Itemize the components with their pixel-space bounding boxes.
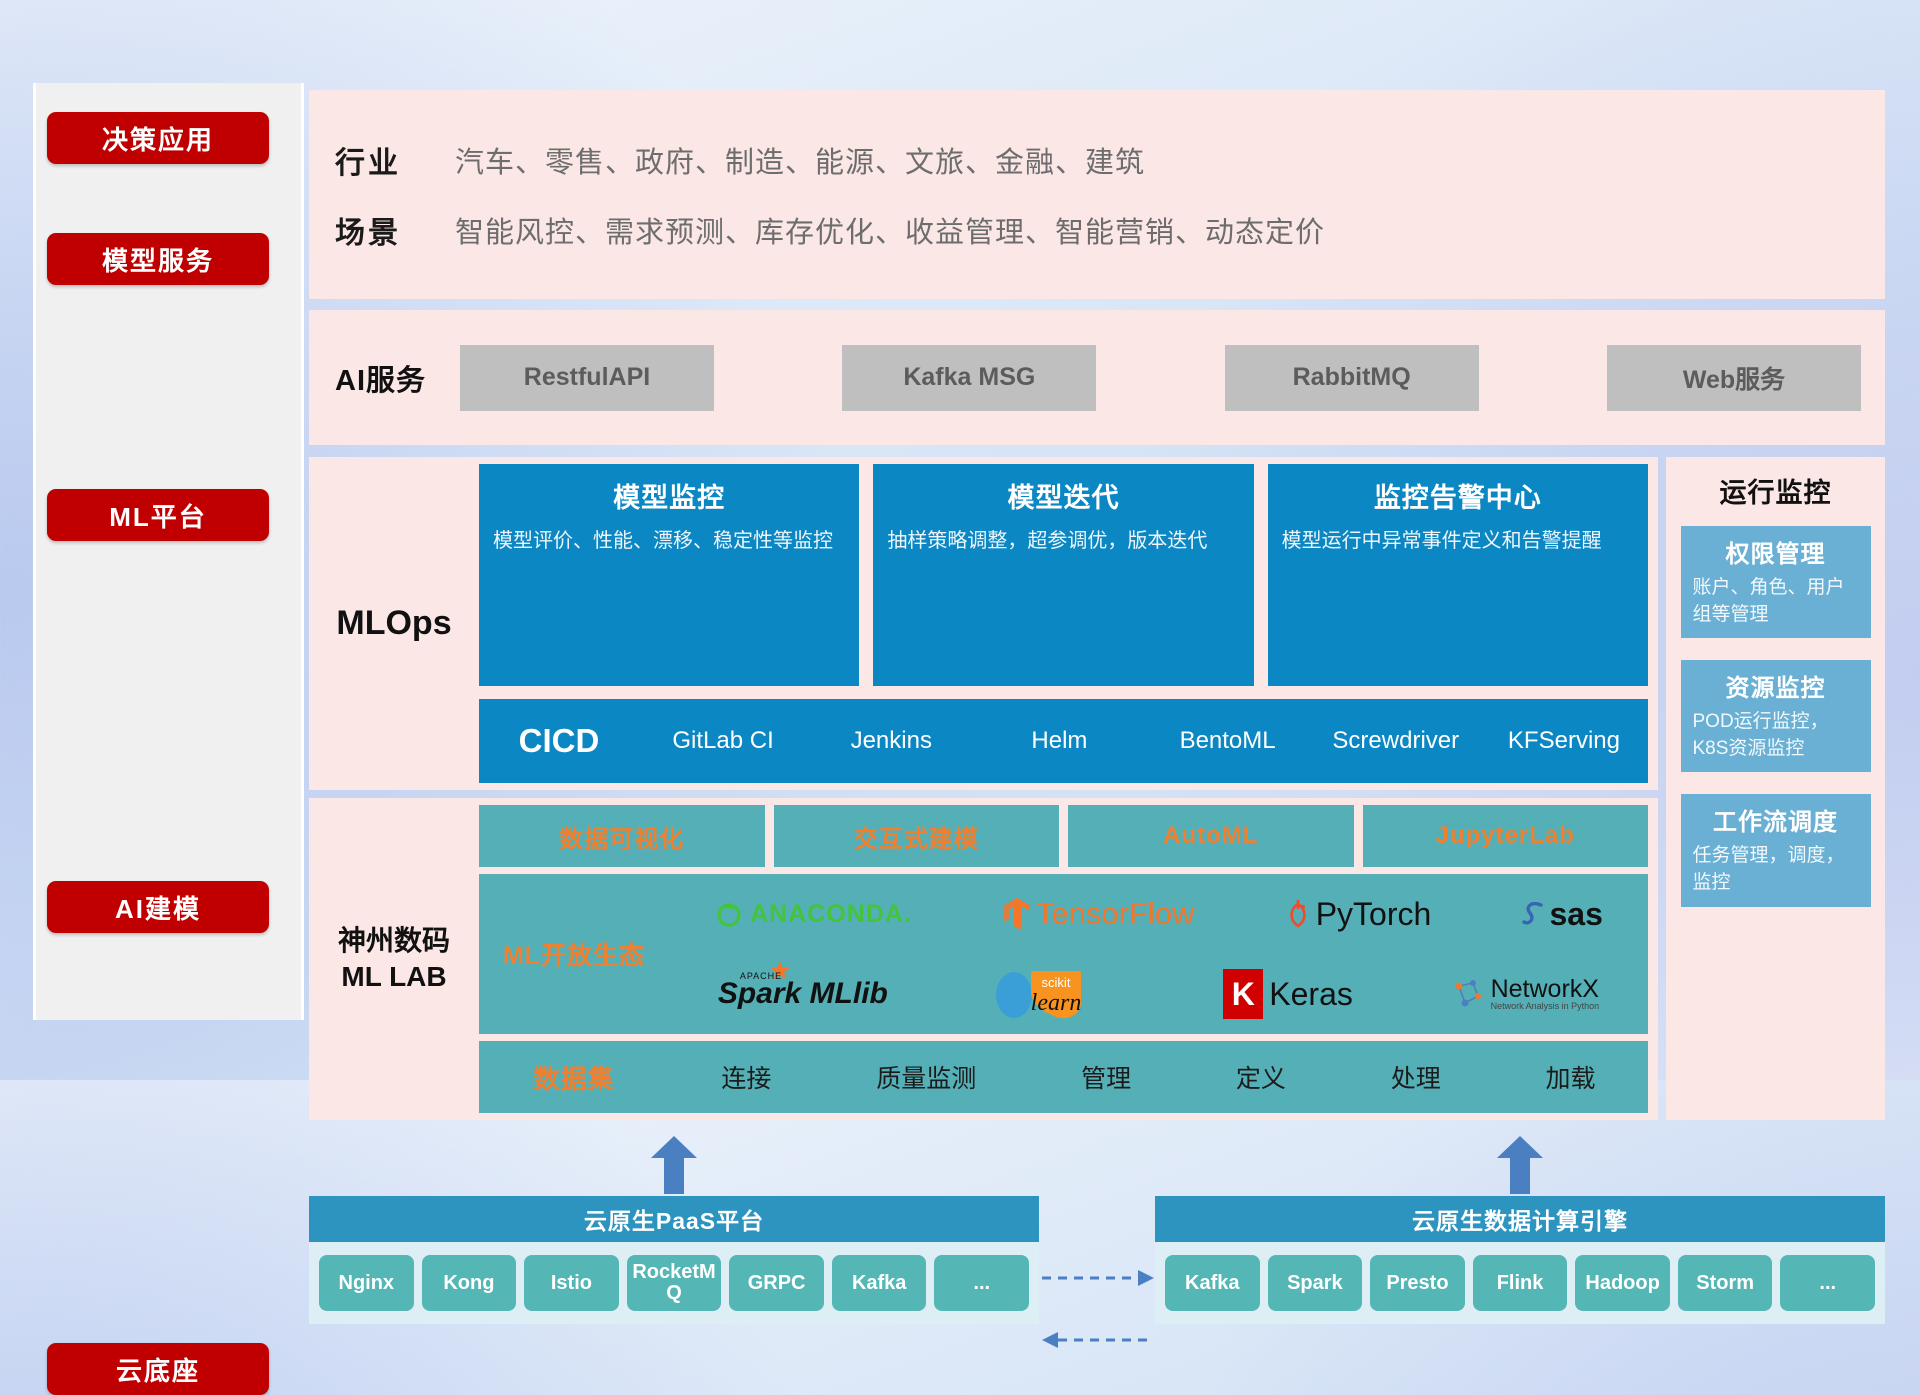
card-desc: 模型运行中异常事件定义和告警提醒	[1282, 527, 1634, 556]
cicd-item-gitlab-ci[interactable]: GitLab CI	[639, 728, 807, 753]
compute-chip-spark[interactable]: Spark	[1268, 1255, 1363, 1311]
layer-chip-ml-platform[interactable]: ML平台	[47, 489, 269, 541]
industry-row: 行业 汽车、零售、政府、制造、能源、文旅、金融、建筑	[335, 125, 1885, 195]
runtime-monitor-title: 运行监控	[1720, 471, 1832, 510]
cloud-compute-chip-list: Kafka Spark Presto Flink Hadoop Storm ..…	[1155, 1242, 1885, 1324]
tensorflow-icon	[1002, 897, 1032, 931]
monitor-card-permission[interactable]: 权限管理 账户、角色、用户组等管理	[1681, 526, 1871, 638]
sas-label: sas	[1549, 896, 1602, 933]
ai-service-chip-rabbitmq[interactable]: RabbitMQ	[1225, 345, 1479, 411]
scikit-learn-logo: scikit learn	[986, 965, 1126, 1023]
runtime-monitor-panel: 运行监控 权限管理 账户、角色、用户组等管理 资源监控 POD运行监控，K8S资…	[1666, 457, 1885, 1120]
tensorflow-label: TensorFlow	[1036, 896, 1195, 932]
cicd-item-jenkins[interactable]: Jenkins	[807, 728, 975, 753]
dataset-item-process[interactable]: 处理	[1391, 1059, 1441, 1095]
anaconda-label: ANACONDA.	[750, 900, 912, 929]
left-rail	[33, 83, 304, 1020]
cloud-paas-panel: 云原生PaaS平台 Nginx Kong Istio RocketMQ GRPC…	[309, 1196, 1039, 1324]
cloud-chip-more[interactable]: ...	[934, 1255, 1029, 1311]
ai-service-label: AI服务	[335, 357, 460, 399]
svg-text:learn: learn	[1030, 990, 1081, 1016]
layer-chip-decision-app[interactable]: 决策应用	[47, 112, 269, 164]
logo-row-bottom: APACHE Spark MLlib scikit learn	[669, 954, 1648, 1034]
dashed-arrows-icon	[1040, 1264, 1156, 1356]
bidirectional-link	[1040, 1264, 1156, 1356]
cloud-chip-grpc[interactable]: GRPC	[729, 1255, 824, 1311]
mlops-content: 模型监控 模型评价、性能、漂移、稳定性等监控 模型迭代 抽样策略调整，超参调优，…	[479, 464, 1658, 783]
networkx-logo: NetworkX Network Analysis in Python	[1451, 976, 1600, 1012]
cicd-item-screwdriver[interactable]: Screwdriver	[1312, 728, 1480, 753]
scene-row: 场景 智能风控、需求预测、库存优化、收益管理、智能营销、动态定价	[335, 195, 1885, 265]
layer-chip-label: AI建模	[115, 889, 201, 926]
card-title: 模型迭代	[887, 476, 1239, 515]
dataset-item-define[interactable]: 定义	[1236, 1059, 1286, 1095]
card-desc: 抽样策略调整，超参调优，版本迭代	[887, 527, 1239, 556]
ml-lab-label-line1: 神州数码	[309, 923, 479, 959]
monitor-card-resource[interactable]: 资源监控 POD运行监控，K8S资源监控	[1681, 660, 1871, 772]
ml-lab-label: 神州数码 ML LAB	[309, 923, 479, 996]
ai-service-chip-web-service[interactable]: Web服务	[1607, 345, 1861, 411]
ml-ecosystem-logos: ANACONDA. TensorFlow	[669, 874, 1648, 1034]
cloud-compute-title: 云原生数据计算引擎	[1155, 1196, 1885, 1242]
ml-tool-interactive-modeling[interactable]: 交互式建模	[774, 805, 1060, 867]
industry-values: 汽车、零售、政府、制造、能源、文旅、金融、建筑	[455, 139, 1145, 181]
spark-apache-label: APACHE	[740, 971, 782, 981]
card-desc: 账户、角色、用户组等管理	[1693, 575, 1859, 628]
cicd-item-bentoml[interactable]: BentoML	[1144, 728, 1312, 753]
cloud-chip-istio[interactable]: Istio	[524, 1255, 619, 1311]
ml-tool-list: 数据可视化 交互式建模 AutoML JupyterLab	[479, 805, 1648, 867]
mlops-label: MLOps	[309, 604, 479, 643]
up-arrow-icon	[651, 1136, 697, 1194]
cicd-item-list: GitLab CI Jenkins Helm BentoML Screwdriv…	[639, 728, 1648, 753]
anaconda-icon	[714, 899, 744, 929]
layer-chip-ai-modeling[interactable]: AI建模	[47, 881, 269, 933]
dataset-item-load[interactable]: 加载	[1546, 1059, 1596, 1095]
mlops-card-list: 模型监控 模型评价、性能、漂移、稳定性等监控 模型迭代 抽样策略调整，超参调优，…	[479, 464, 1648, 686]
compute-chip-hadoop[interactable]: Hadoop	[1575, 1255, 1670, 1311]
card-title: 监控告警中心	[1282, 476, 1634, 515]
anaconda-logo: ANACONDA.	[714, 899, 912, 929]
scene-label: 场景	[335, 208, 455, 252]
cicd-label: CICD	[479, 722, 639, 760]
keras-logo: K Keras	[1223, 969, 1353, 1019]
up-arrow-left	[651, 1136, 697, 1192]
dataset-item-connect[interactable]: 连接	[721, 1059, 771, 1095]
cicd-item-helm[interactable]: Helm	[975, 728, 1143, 753]
mlops-panel: MLOps 模型监控 模型评价、性能、漂移、稳定性等监控 模型迭代 抽样策略调整…	[309, 457, 1658, 790]
ai-service-chip-list: RestfulAPI Kafka MSG RabbitMQ Web服务	[460, 345, 1885, 411]
industry-label: 行业	[335, 138, 455, 182]
cloud-chip-kong[interactable]: Kong	[422, 1255, 517, 1311]
diagram-canvas: 决策应用 模型服务 ML平台 AI建模 云底座 行业 汽车、零售、政府、制造、能…	[0, 0, 1920, 1080]
cloud-paas-chip-list: Nginx Kong Istio RocketMQ GRPC Kafka ...	[309, 1242, 1039, 1324]
ml-tool-data-visualization[interactable]: 数据可视化	[479, 805, 765, 867]
sas-icon	[1521, 899, 1547, 929]
card-title: 模型监控	[493, 476, 845, 515]
card-desc: 模型评价、性能、漂移、稳定性等监控	[493, 527, 845, 556]
spark-mllib-label: Spark MLlib	[718, 977, 888, 1011]
scikit-learn-icon: scikit learn	[986, 965, 1126, 1023]
card-desc: 任务管理，调度，监控	[1693, 843, 1859, 896]
dataset-bar: 数据集 连接 质量监测 管理 定义 处理 加载	[479, 1041, 1648, 1113]
cloud-chip-nginx[interactable]: Nginx	[319, 1255, 414, 1311]
dataset-item-manage[interactable]: 管理	[1081, 1059, 1131, 1095]
dataset-item-list: 连接 质量监测 管理 定义 处理 加载	[669, 1059, 1648, 1095]
mlops-card-alert-center[interactable]: 监控告警中心 模型运行中异常事件定义和告警提醒	[1268, 464, 1648, 686]
layer-chip-model-service[interactable]: 模型服务	[47, 233, 269, 285]
logo-row-top: ANACONDA. TensorFlow	[669, 874, 1648, 954]
mlops-card-model-iteration[interactable]: 模型迭代 抽样策略调整，超参调优，版本迭代	[873, 464, 1253, 686]
compute-chip-flink[interactable]: Flink	[1473, 1255, 1568, 1311]
networkx-icon	[1451, 976, 1487, 1012]
cloud-chip-kafka[interactable]: Kafka	[832, 1255, 927, 1311]
compute-chip-presto[interactable]: Presto	[1370, 1255, 1465, 1311]
keras-icon: K	[1223, 969, 1263, 1019]
networkx-sublabel: Network Analysis in Python	[1491, 1002, 1600, 1011]
mlops-card-model-monitoring[interactable]: 模型监控 模型评价、性能、漂移、稳定性等监控	[479, 464, 859, 686]
ai-service-chip-kafka-msg[interactable]: Kafka MSG	[842, 345, 1096, 411]
ml-tool-jupyterlab[interactable]: JupyterLab	[1363, 805, 1649, 867]
ai-service-chip-restfulapi[interactable]: RestfulAPI	[460, 345, 714, 411]
keras-label: Keras	[1269, 976, 1353, 1013]
dataset-label: 数据集	[479, 1059, 669, 1096]
card-title: 权限管理	[1693, 534, 1859, 569]
ml-ecosystem-bar: ML开放生态 ANACONDA.	[479, 874, 1648, 1034]
dataset-item-quality-monitor[interactable]: 质量监测	[876, 1059, 976, 1095]
up-arrow-right	[1497, 1136, 1543, 1192]
tensorflow-logo: TensorFlow	[1002, 896, 1195, 932]
cloud-paas-title: 云原生PaaS平台	[309, 1196, 1039, 1242]
layer-chip-label: 云底座	[116, 1351, 200, 1388]
cloud-compute-panel: 云原生数据计算引擎 Kafka Spark Presto Flink Hadoo…	[1155, 1196, 1885, 1324]
card-title: 资源监控	[1693, 668, 1859, 703]
layer-chip-label: 决策应用	[102, 120, 214, 157]
layer-chip-label: ML平台	[109, 497, 207, 534]
pytorch-label: PyTorch	[1316, 896, 1432, 933]
sas-logo: sas	[1521, 896, 1602, 933]
monitor-card-workflow[interactable]: 工作流调度 任务管理，调度，监控	[1681, 794, 1871, 906]
svg-text:scikit: scikit	[1041, 975, 1070, 990]
card-desc: POD运行监控，K8S资源监控	[1693, 709, 1859, 762]
up-arrow-icon	[1497, 1136, 1543, 1194]
layer-chip-cloud-base[interactable]: 云底座	[47, 1343, 269, 1395]
ml-lab-panel: 神州数码 ML LAB 数据可视化 交互式建模 AutoML JupyterLa…	[309, 798, 1658, 1120]
ml-ecosystem-label: ML开放生态	[479, 936, 669, 972]
ai-service-panel: AI服务 RestfulAPI Kafka MSG RabbitMQ Web服务	[309, 310, 1885, 445]
compute-chip-storm[interactable]: Storm	[1678, 1255, 1773, 1311]
pytorch-logo: PyTorch	[1285, 896, 1432, 933]
networkx-label: NetworkX	[1491, 977, 1600, 1002]
ml-tool-automl[interactable]: AutoML	[1068, 805, 1354, 867]
spark-mllib-logo: APACHE Spark MLlib	[718, 977, 888, 1011]
compute-chip-more[interactable]: ...	[1780, 1255, 1875, 1311]
cloud-chip-rocketmq[interactable]: RocketMQ	[627, 1255, 722, 1311]
ml-lab-content: 数据可视化 交互式建模 AutoML JupyterLab ML开放生态 ANA…	[479, 805, 1658, 1113]
ml-lab-label-line2: ML LAB	[309, 959, 479, 995]
card-title: 工作流调度	[1693, 802, 1859, 837]
pytorch-icon	[1285, 898, 1311, 930]
layer-chip-label: 模型服务	[102, 241, 214, 278]
scene-values: 智能风控、需求预测、库存优化、收益管理、智能营销、动态定价	[455, 209, 1325, 251]
cicd-item-kfserving[interactable]: KFServing	[1480, 728, 1648, 753]
industry-scene-panel: 行业 汽车、零售、政府、制造、能源、文旅、金融、建筑 场景 智能风控、需求预测、…	[309, 90, 1885, 299]
cicd-bar: CICD GitLab CI Jenkins Helm BentoML Scre…	[479, 699, 1648, 783]
compute-chip-kafka[interactable]: Kafka	[1165, 1255, 1260, 1311]
